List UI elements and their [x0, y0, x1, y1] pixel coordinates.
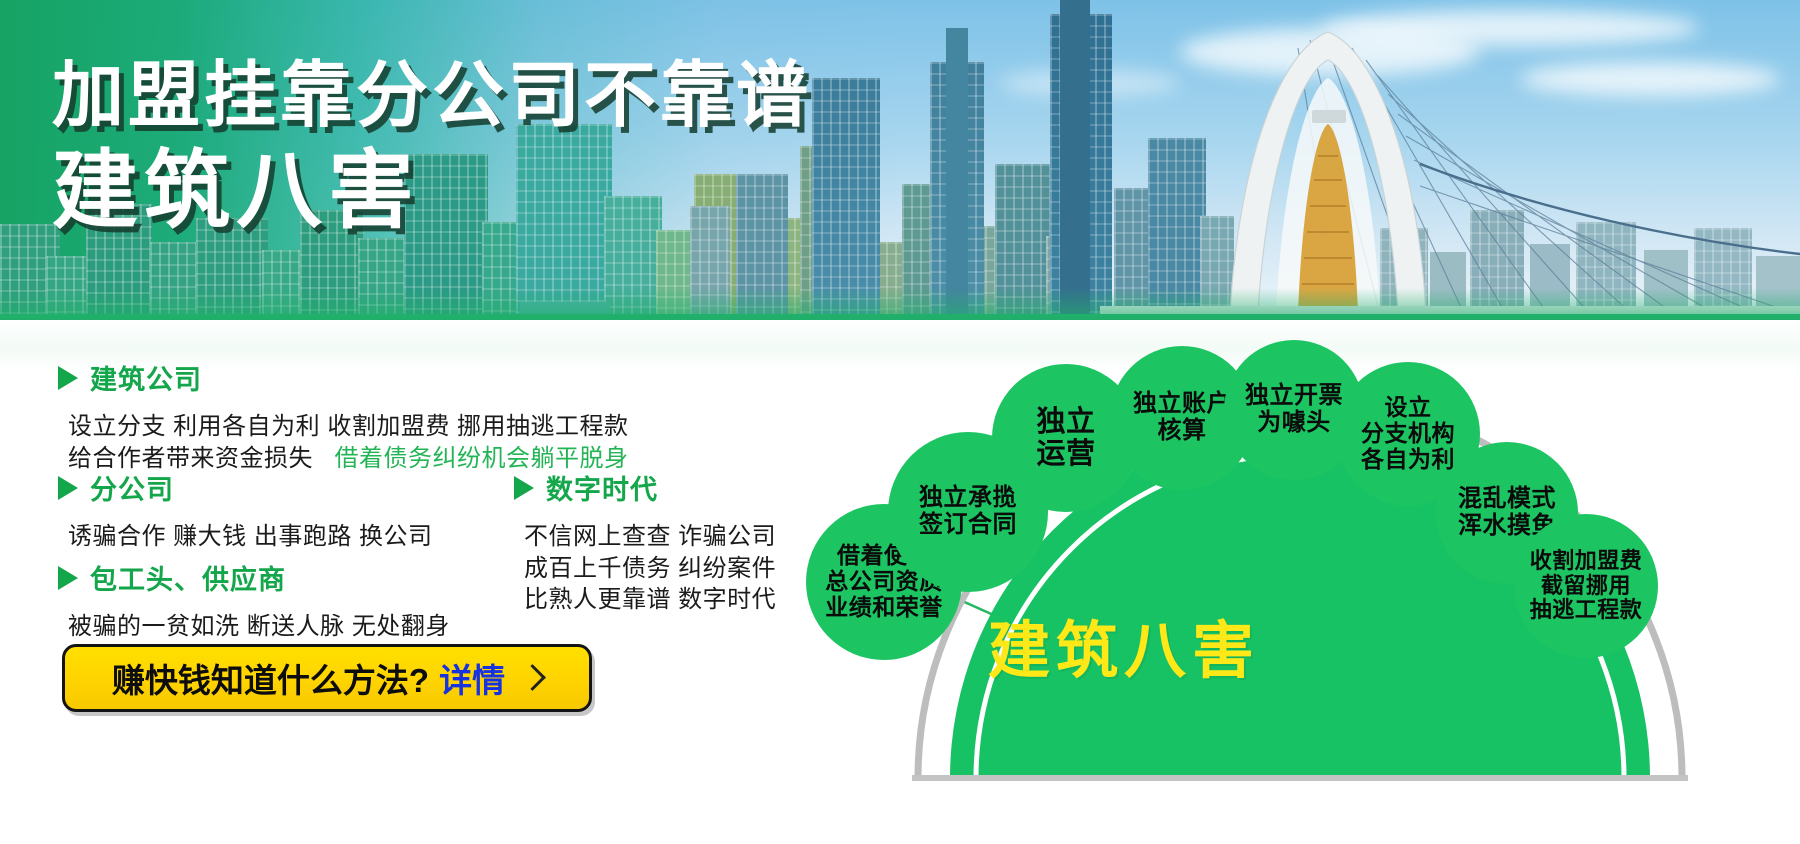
infographic-dome-diagram: 建筑八害 借着使用 总公司资质 业绩和荣誉 独立承揽 签订合同 独立 运营 独立… — [800, 338, 1800, 844]
cta-button[interactable]: 赚快钱知道什么方法? 详情 — [62, 644, 592, 712]
bubble-line: 混乱模式 — [1458, 486, 1556, 513]
bubble-line: 独立开票 — [1245, 383, 1343, 410]
bubble-line: 核算 — [1133, 418, 1231, 445]
cta-detail-link[interactable]: 详情 — [439, 654, 505, 702]
section-body: 诱骗合作 赚大钱 出事跑路 换公司 — [68, 521, 433, 553]
bubble-line: 设立 — [1361, 395, 1455, 421]
hero-title: 加盟挂靠分公司不靠谱 建筑八害 — [52, 58, 812, 237]
triangle-bullet-icon — [58, 366, 78, 390]
hero-banner: 加盟挂靠分公司不靠谱 建筑八害 — [0, 0, 1800, 372]
section-branch-company: 分公司 诱骗合作 赚大钱 出事跑路 换公司 — [58, 468, 433, 553]
dome-base-line — [912, 775, 1688, 781]
triangle-bullet-icon — [58, 476, 78, 500]
body-line: 设立分支 利用各自为利 收割加盟费 挪用抽逃工程款 — [68, 411, 629, 443]
bubble-line: 分支机构 — [1361, 421, 1455, 447]
poster-root: 加盟挂靠分公司不靠谱 建筑八害 建筑公司 设立分支 利用各自为利 收割加盟费 挪… — [0, 0, 1800, 844]
body-line: 成百上千债务 纠纷案件 — [524, 553, 776, 585]
bubble-line: 业绩和荣誉 — [825, 595, 943, 621]
bubble-line: 各自为利 — [1361, 447, 1455, 473]
bridge-illustration — [980, 14, 1800, 314]
bubble-line: 独立承揽 — [919, 485, 1017, 512]
bubble-line: 独立账户 — [1133, 391, 1231, 418]
section-title: 数字时代 — [546, 468, 658, 507]
section-body: 设立分支 利用各自为利 收割加盟费 挪用抽逃工程款 给合作者带来资金损失 借着债… — [68, 411, 629, 474]
bubble-line: 运营 — [1036, 438, 1095, 470]
body-line: 不信网上查查 诈骗公司 — [524, 521, 776, 553]
chevron-right-icon — [519, 664, 546, 691]
section-heading: 分公司 — [58, 468, 433, 507]
section-digital-era: 数字时代 不信网上查查 诈骗公司 成百上千债务 纠纷案件 比熟人更靠谱 数字时代 — [514, 468, 776, 616]
section-body: 不信网上查查 诈骗公司 成百上千债务 纠纷案件 比熟人更靠谱 数字时代 — [524, 521, 776, 616]
section-body: 被骗的一贫如洗 断送人脉 无处翻身 — [68, 611, 450, 643]
triangle-bullet-icon — [58, 566, 78, 590]
triangle-bullet-icon — [514, 476, 534, 500]
section-construction-company: 建筑公司 设立分支 利用各自为利 收割加盟费 挪用抽逃工程款 给合作者带来资金损… — [58, 358, 629, 474]
body-line: 被骗的一贫如洗 断送人脉 无处翻身 — [68, 611, 450, 643]
section-title: 分公司 — [90, 468, 174, 507]
section-heading: 建筑公司 — [58, 358, 629, 397]
section-title: 建筑公司 — [90, 358, 202, 397]
left-content-column: 建筑公司 设立分支 利用各自为利 收割加盟费 挪用抽逃工程款 给合作者带来资金损… — [0, 372, 820, 844]
section-contractor-supplier: 包工头、供应商 被骗的一贫如洗 断送人脉 无处翻身 — [58, 558, 450, 643]
section-heading: 数字时代 — [514, 468, 776, 507]
bubble-line: 签订合同 — [919, 512, 1017, 539]
ground-fade — [0, 288, 1800, 314]
bubble-franchise-fee-diversion[interactable]: 收割加盟费 截留挪用 抽逃工程款 — [1514, 514, 1658, 658]
body-line: 比熟人更靠谱 数字时代 — [524, 584, 776, 616]
hero-title-line-1: 加盟挂靠分公司不靠谱 — [52, 58, 812, 134]
section-title: 包工头、供应商 — [90, 558, 286, 597]
hero-title-line-2: 建筑八害 — [52, 146, 812, 237]
body-text: 设立分支 利用各自为利 收割加盟费 挪用抽逃工程款 — [68, 413, 629, 440]
section-heading: 包工头、供应商 — [58, 558, 450, 597]
bubble-line: 截留挪用 — [1530, 574, 1643, 599]
dome-center-label: 建筑八害 — [988, 600, 1260, 690]
bubble-line: 独立 — [1036, 406, 1095, 438]
bubble-line: 为噱头 — [1245, 410, 1343, 437]
body-line: 诱骗合作 赚大钱 出事跑路 换公司 — [68, 521, 433, 553]
cta-question-text: 赚快钱知道什么方法? — [112, 654, 429, 702]
bubble-line: 抽逃工程款 — [1530, 598, 1643, 623]
bubble-line: 收割加盟费 — [1530, 549, 1643, 574]
